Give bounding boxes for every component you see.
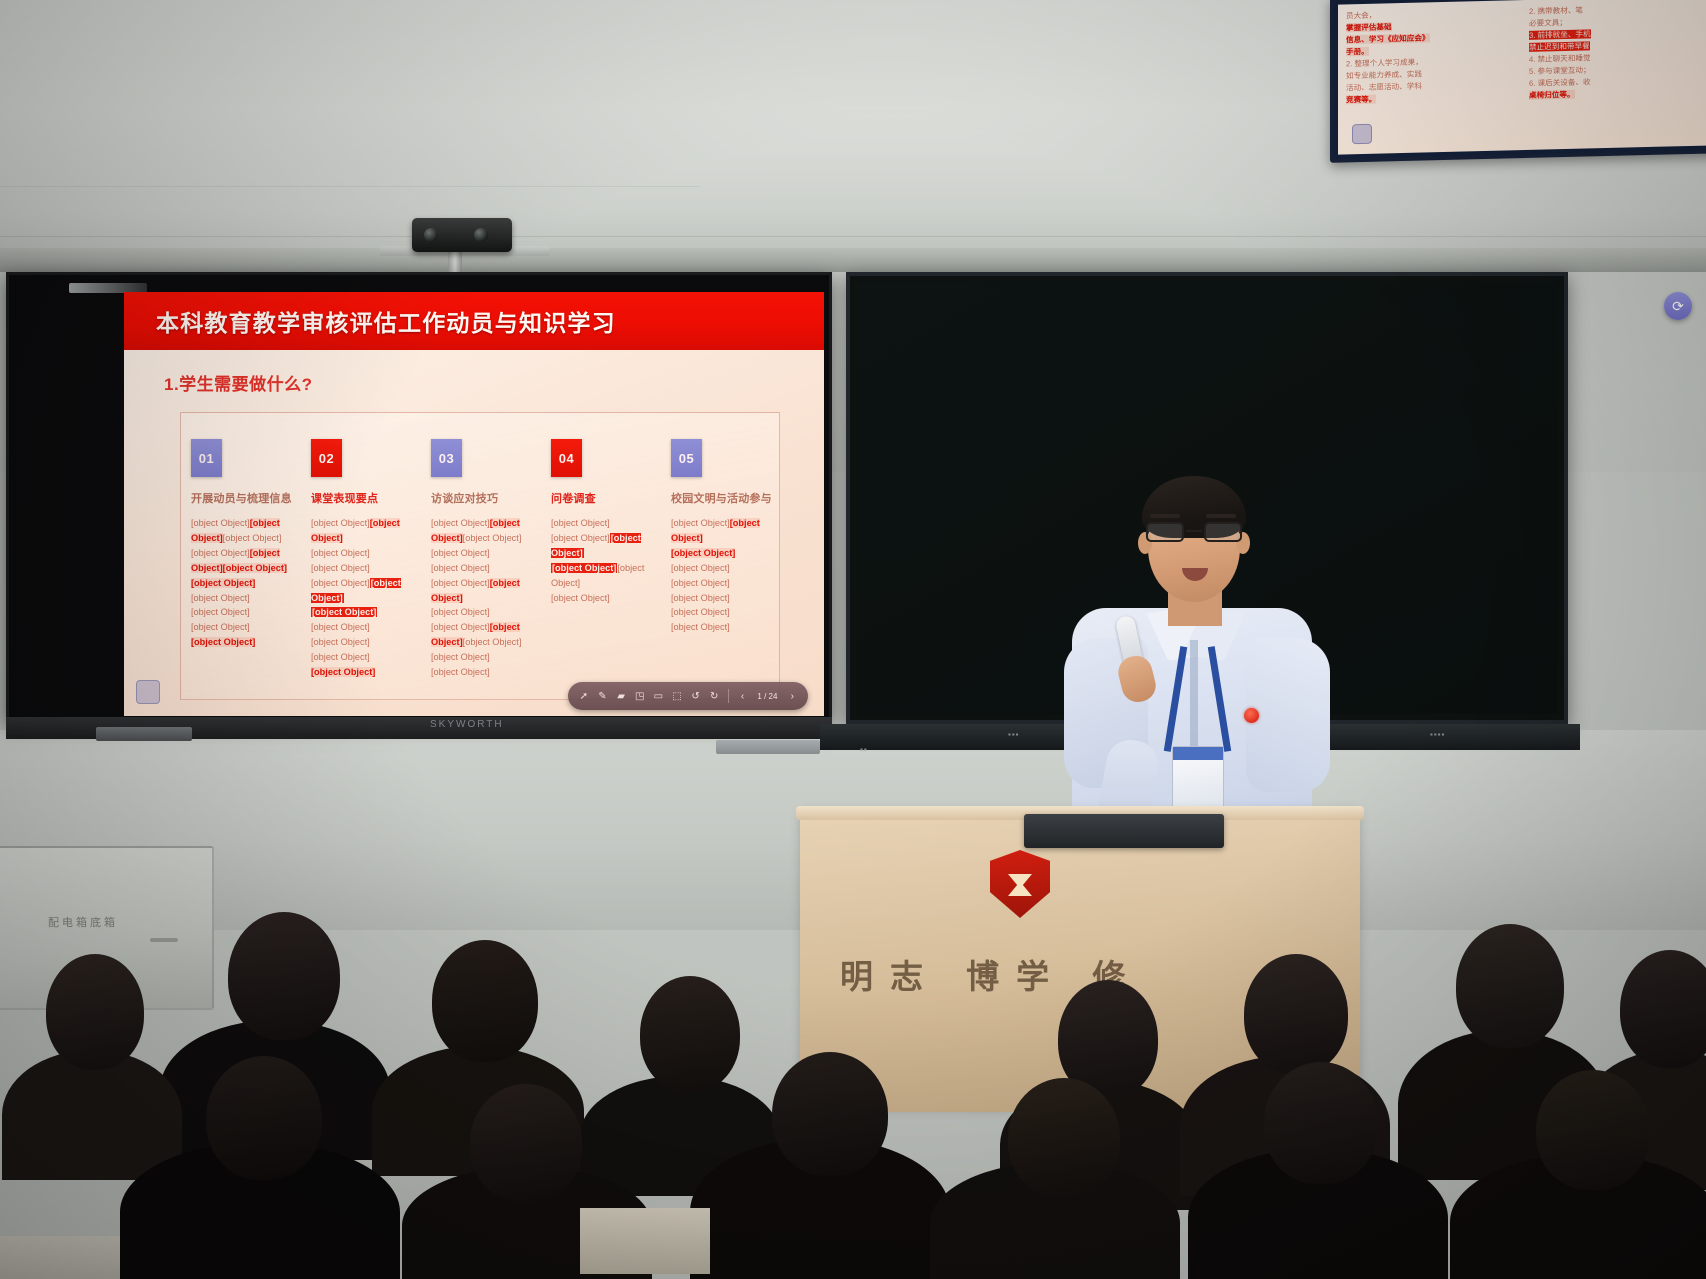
undo-tool-icon[interactable]: ↺ [688, 686, 704, 706]
body-line: [object Object] [463, 533, 522, 543]
secondary-monitor-slide: 员大会， 掌握评估基础 信息、学习《应知应会》 手册。 2. 整理个人学习成果，… [1338, 0, 1706, 155]
slide-column-05: 05 校园文明与活动参与 [object Object][object Obje… [661, 413, 781, 701]
column-header: 访谈应对技巧 [431, 490, 534, 506]
secondary-line: 信息、学习《应知应会》 [1346, 33, 1430, 44]
body-line: [object Object] [671, 518, 730, 528]
column-header: 课堂表现要点 [311, 490, 414, 506]
lecture-hall-scene: 员大会， 掌握评估基础 信息、学习《应知应会》 手册。 2. 整理个人学习成果，… [0, 0, 1706, 1279]
audience-head [1456, 924, 1564, 1048]
body-line: [object Object] [671, 576, 774, 591]
column-badge: 05 [671, 439, 702, 477]
body-line: [object Object] [191, 620, 294, 635]
body-line: [object Object] [311, 578, 370, 588]
camera-lens-secondary-icon [474, 228, 488, 242]
body-line: [object Object] [311, 546, 414, 561]
body-line: [object Object] [551, 533, 610, 543]
secondary-line: 掌握评估基础 [1346, 22, 1392, 32]
column-badge: 02 [311, 439, 342, 477]
rail-tag-left: ▪▪▪ [1008, 730, 1020, 739]
column-header: 问卷调查 [551, 490, 654, 506]
slide-title-bar: 本科教育教学审核评估工作动员与知识学习 [124, 292, 824, 350]
column-body: [object Object] [object Object][object O… [551, 516, 654, 605]
secondary-monitor[interactable]: 员大会， 掌握评估基础 信息、学习《应知应会》 手册。 2. 整理个人学习成果，… [1330, 0, 1706, 163]
slide-floating-action-button[interactable]: ⟳ [1664, 292, 1692, 320]
secondary-corner-widget[interactable] [1352, 124, 1372, 144]
pen-tool-icon[interactable]: ✎ [595, 686, 611, 706]
audience-head [1244, 954, 1348, 1074]
audience-head [1008, 1078, 1120, 1198]
body-line: [object Object] [191, 548, 250, 558]
presenter-brow-right [1206, 514, 1236, 518]
body-line: [object Object] [551, 563, 617, 573]
column-body: [object Object][object Object][object Ob… [431, 516, 534, 680]
next-page-button[interactable]: › [784, 686, 800, 706]
secondary-column-1: 员大会， 掌握评估基础 信息、学习《应知应会》 手册。 2. 整理个人学习成果，… [1346, 6, 1521, 106]
slide-column-02: 02 课堂表现要点 [object Object][object Object]… [301, 413, 421, 701]
slide-column-01: 01 开展动员与梳理信息 [object Object][object Obje… [181, 413, 301, 701]
body-line: [object Object] [671, 591, 774, 606]
body-line: [object Object] [671, 561, 774, 576]
eyeglass-bridge [1186, 530, 1202, 532]
annotation-toolbar[interactable]: ➚ ✎ ▰ ◳ ▭ ⬚ ↺ ↻ ‹ 1 / 24 › [568, 682, 808, 710]
primary-display-ports[interactable] [96, 727, 192, 741]
cursor-tool-icon[interactable]: ➚ [576, 686, 592, 706]
body-line: [object Object] [311, 607, 377, 617]
audience-head [46, 954, 144, 1070]
rail-tag-right: ▪▪▪▪ [1430, 730, 1445, 739]
slide-title: 本科教育教学审核评估工作动员与知识学习 [124, 304, 616, 338]
body-line: [object Object] [311, 667, 375, 677]
body-line: [object Object] [551, 591, 654, 606]
column-badge: 03 [431, 439, 462, 477]
slide-column-04: 04 问卷调查 [object Object] [object Object][… [541, 413, 661, 701]
body-line: [object Object] [431, 605, 534, 620]
secondary-line: 竞赛等。 [1346, 95, 1376, 105]
id-badge [1172, 746, 1224, 810]
ceiling-seam-left [0, 186, 700, 187]
body-line: [object Object] [431, 578, 490, 588]
slide-section-heading: 1.学生需要做什么? [164, 370, 313, 395]
body-line: [object Object] [191, 637, 255, 647]
secondary-slide-columns: 员大会， 掌握评估基础 信息、学习《应知应会》 手册。 2. 整理个人学习成果，… [1346, 2, 1704, 107]
ceiling-camera [412, 218, 512, 252]
body-line: [object Object] [431, 561, 534, 576]
column-body: [object Object][object Object] [object O… [671, 516, 774, 635]
audience-head [640, 976, 740, 1092]
highlighter-tool-icon[interactable]: ▰ [613, 686, 629, 706]
body-line: [object Object] [311, 635, 414, 650]
body-line: [object Object] [223, 563, 287, 573]
secondary-line: 桌椅归位等。 [1529, 90, 1575, 100]
body-line: [object Object] [431, 518, 490, 528]
presenter-brow-left [1150, 514, 1180, 518]
column-header: 开展动员与梳理信息 [191, 490, 294, 506]
page-indicator: 1 / 24 [753, 692, 781, 701]
select-tool-icon[interactable]: ⬚ [669, 686, 685, 706]
toolbar-divider [728, 689, 729, 703]
audience-head [772, 1052, 888, 1176]
slide-corner-widget[interactable] [136, 680, 160, 704]
rail-tag-far-left: ▪▪ [860, 745, 868, 754]
body-line: [object Object] [463, 637, 522, 647]
slide-columns: 01 开展动员与梳理信息 [object Object][object Obje… [181, 413, 781, 701]
presentation-slide[interactable]: 本科教育教学审核评估工作动员与知识学习 1.学生需要做什么? 01 开展动员与梳… [124, 292, 824, 716]
column-body: [object Object][object Object][object Ob… [191, 516, 294, 650]
redo-tool-icon[interactable]: ↻ [706, 686, 722, 706]
slide-column-03: 03 访谈应对技巧 [object Object][object Object]… [421, 413, 541, 701]
camera-lens-icon [424, 228, 438, 242]
id-badge-header [1173, 747, 1223, 760]
body-line: [object Object] [671, 620, 774, 635]
body-line: [object Object] [431, 650, 534, 665]
body-line: [object Object] [191, 518, 250, 528]
body-line: [object Object] [671, 548, 735, 558]
eyeglass-lens-right [1204, 522, 1242, 542]
ceiling-seam-secondary [0, 236, 1706, 237]
slide-content-panel: 01 开展动员与梳理信息 [object Object][object Obje… [180, 412, 780, 700]
audience-head [1264, 1062, 1378, 1184]
body-line: [object Object] [671, 605, 774, 620]
body-line: [object Object] [311, 518, 370, 528]
audience-head [206, 1056, 322, 1180]
body-line: [object Object] [311, 561, 414, 576]
body-line: [object Object] [431, 622, 490, 632]
column-body: [object Object][object Object] [object O… [311, 516, 414, 680]
eyeglass-lens-left [1146, 522, 1184, 542]
body-line: [object Object] [311, 650, 414, 665]
body-line: [object Object] [551, 516, 654, 531]
audience-head [470, 1084, 582, 1202]
column-badge: 01 [191, 439, 222, 477]
lectern-control-panel[interactable] [1024, 814, 1224, 848]
audience-desk [580, 1208, 710, 1274]
audience [0, 880, 1706, 1279]
body-line: [object Object] [191, 591, 294, 606]
audience-head [1620, 950, 1706, 1068]
body-line: [object Object] [311, 620, 414, 635]
audience-head [432, 940, 538, 1062]
secondary-line: 3. 前排就坐、手机 [1529, 29, 1591, 40]
body-line: [object Object] [431, 546, 534, 561]
body-line: [object Object] [191, 605, 294, 620]
primary-display-brand-label: SKYWORTH [430, 719, 504, 730]
audience-head [1536, 1070, 1650, 1190]
secondary-line: 禁止迟到和带早餐 [1529, 41, 1590, 51]
column-header: 校园文明与活动参与 [671, 490, 774, 506]
secondary-line: 手册。 [1346, 47, 1369, 57]
shape-tool-icon[interactable]: ▭ [651, 686, 667, 706]
audience-head [228, 912, 340, 1040]
party-pin-icon [1244, 708, 1259, 723]
body-line: [object Object] [191, 578, 255, 588]
eyeglasses-icon [1144, 522, 1244, 544]
eraser-tool-icon[interactable]: ◳ [632, 686, 648, 706]
body-line: [object Object] [223, 533, 282, 543]
column-badge: 04 [551, 439, 582, 477]
primary-display-control-buttons[interactable] [716, 740, 820, 754]
audience-desk [0, 1236, 120, 1279]
body-line: [object Object] [431, 665, 534, 680]
secondary-column-2: 2. 携带教材、笔 必要文具； 3. 前排就坐、手机 禁止迟到和带早餐 4. 禁… [1529, 2, 1704, 102]
prev-page-button[interactable]: ‹ [735, 686, 751, 706]
